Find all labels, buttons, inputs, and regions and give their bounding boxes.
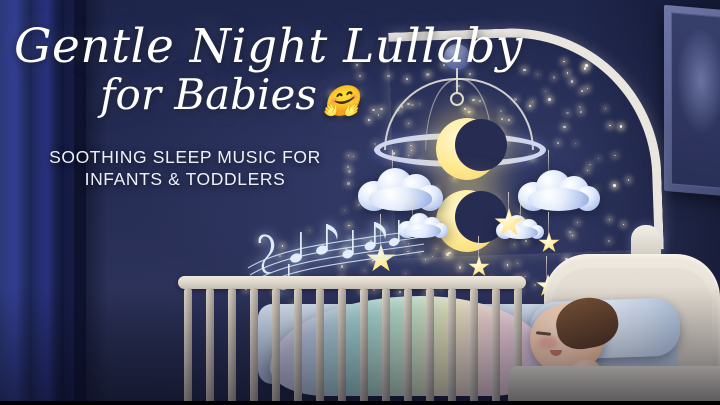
- cloud-left-large: [358, 166, 441, 211]
- sparkle: [368, 119, 370, 121]
- cloud-right-large: [518, 168, 598, 211]
- hugging-face-emoji: 🤗: [323, 84, 360, 119]
- letterbox-bar: [0, 401, 720, 405]
- title-line-2-text: for Babies: [100, 70, 317, 119]
- title-line-1: Gentle Night Lullaby: [14, 24, 424, 70]
- title-line-2: for Babies🤗: [100, 74, 424, 117]
- title-block: Gentle Night Lullaby for Babies🤗: [14, 24, 424, 117]
- cloud-right-small: [496, 214, 543, 239]
- floor-shadow: [0, 285, 720, 405]
- subtitle-line-2: INFANTS & TODDLERS: [40, 168, 330, 190]
- picture-canvas: [671, 12, 720, 189]
- sparkle: [347, 182, 350, 185]
- sparkle: [348, 155, 349, 156]
- moon-inner-cut: [455, 119, 507, 171]
- sparkle: [348, 170, 350, 172]
- subtitle-block: SOOTHING SLEEP MUSIC FOR INFANTS & TODDL…: [40, 146, 330, 191]
- subtitle-line-1: SOOTHING SLEEP MUSIC FOR: [40, 146, 330, 168]
- video-thumbnail: Gentle Night Lullaby for Babies🤗 SOOTHIN…: [0, 0, 720, 405]
- mobile-string: [548, 212, 549, 236]
- framed-picture: [664, 5, 720, 197]
